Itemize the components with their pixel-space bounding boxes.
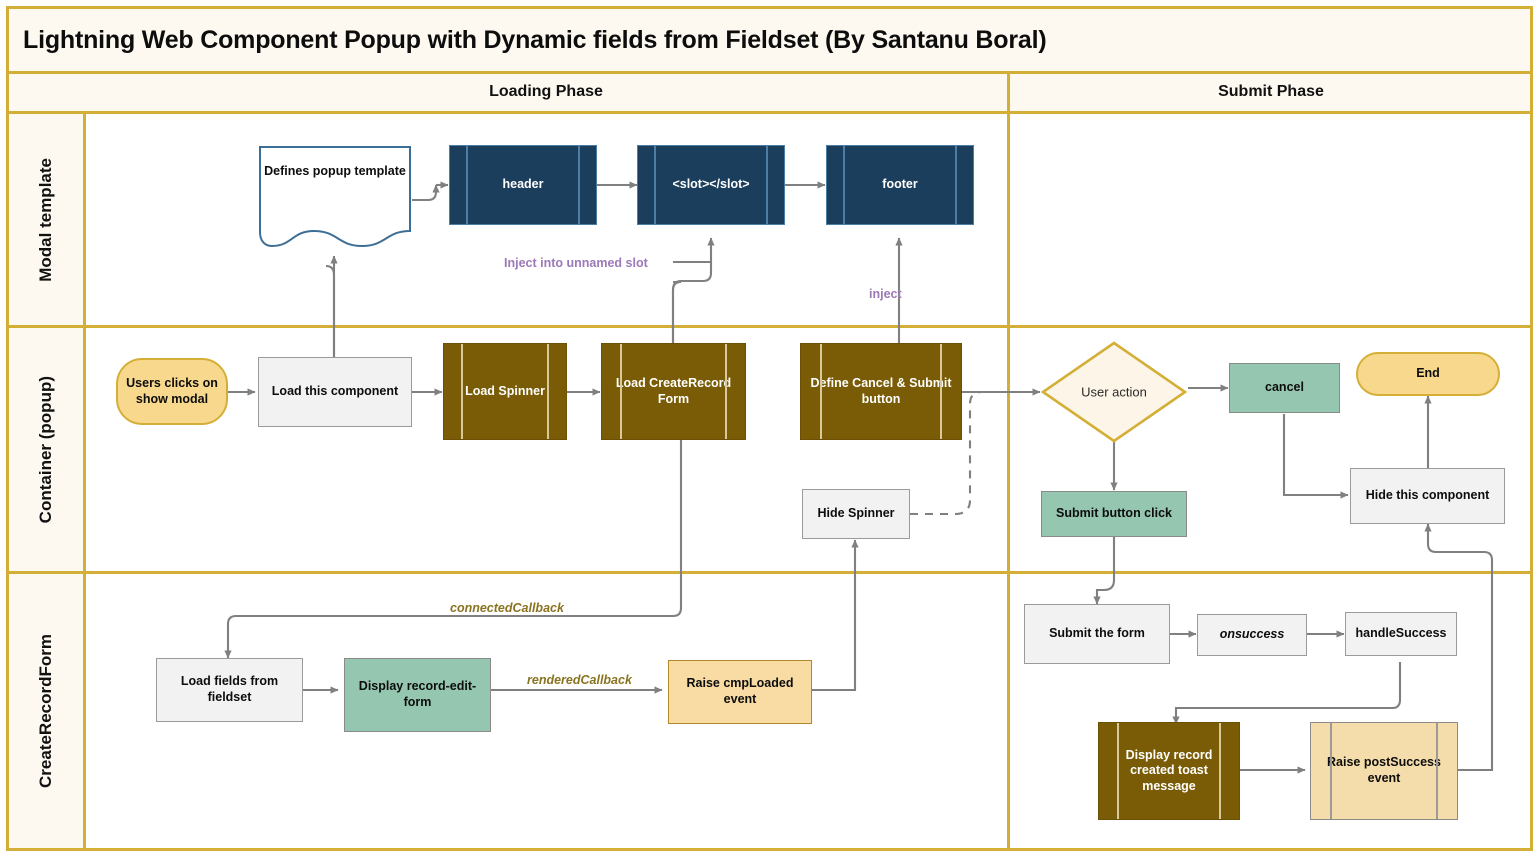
submit-the-form-label: Submit the form — [1043, 626, 1151, 642]
submit-button-click-label: Submit button click — [1050, 506, 1178, 522]
end-label: End — [1410, 366, 1446, 382]
display-record-edit-form-label: Display record-edit-form — [345, 679, 490, 710]
raise-postsuccess-node[interactable]: Raise postSuccess event — [1310, 722, 1458, 820]
phase-loading-label: Loading Phase — [489, 83, 603, 101]
onsuccess-node[interactable]: onsuccess — [1197, 614, 1307, 656]
onsuccess-label: onsuccess — [1214, 627, 1291, 643]
inject-unnamed-slot-label: Inject into unnamed slot — [504, 256, 648, 270]
sep-phase — [9, 111, 1530, 114]
load-spinner-node[interactable]: Load Spinner — [443, 343, 567, 440]
submit-button-click-node[interactable]: Submit button click — [1041, 491, 1187, 537]
user-action-decision-node[interactable]: User action — [1040, 340, 1188, 444]
inject-label: inject — [869, 287, 902, 301]
predef-bar-left — [1117, 723, 1119, 819]
load-createrecordform-label: Load CreateRecord Form — [602, 376, 745, 407]
sep-lane-header-col — [83, 111, 86, 848]
diagram-frame — [6, 6, 1533, 851]
lane-header-modal-template: Modal template — [9, 114, 83, 325]
diagram-canvas: Lightning Web Component Popup with Dynam… — [0, 0, 1539, 857]
predef-bar-left — [843, 146, 845, 224]
load-spinner-label: Load Spinner — [459, 384, 551, 400]
display-toast-node[interactable]: Display record created toast message — [1098, 722, 1240, 820]
connected-callback-label: connectedCallback — [446, 601, 568, 615]
load-fields-from-fieldset-node[interactable]: Load fields from fieldset — [156, 658, 303, 722]
load-this-component-label: Load this component — [266, 384, 404, 400]
predef-bar-right — [940, 344, 942, 439]
users-clicks-show-modal-node[interactable]: Users clicks on show modal — [116, 358, 228, 425]
handle-success-label: handleSuccess — [1349, 626, 1452, 642]
defines-popup-template-label: Defines popup template — [258, 163, 412, 179]
slot-node[interactable]: <slot></slot> — [637, 145, 785, 225]
hide-spinner-node[interactable]: Hide Spinner — [802, 489, 910, 539]
sep-lane-1 — [9, 325, 1530, 328]
raise-postsuccess-label: Raise postSuccess event — [1311, 755, 1457, 786]
document-shape-icon — [258, 145, 412, 248]
sep-phase-divider — [1007, 73, 1010, 848]
define-cancel-submit-node[interactable]: Define Cancel & Submit button — [800, 343, 962, 440]
rendered-callback-label: renderedCallback — [523, 673, 636, 687]
define-cancel-submit-label: Define Cancel & Submit button — [801, 376, 961, 407]
sep-title — [9, 71, 1530, 74]
predef-bar-left — [461, 344, 463, 439]
footer-node[interactable]: footer — [826, 145, 974, 225]
hide-spinner-label: Hide Spinner — [811, 506, 900, 522]
predef-bar-left — [820, 344, 822, 439]
predef-bar-left — [1330, 723, 1332, 819]
lane-header-createrecordform: CreateRecordForm — [9, 574, 83, 848]
hide-this-component-node[interactable]: Hide this component — [1350, 468, 1505, 524]
phase-submit: Submit Phase — [1012, 73, 1530, 111]
sep-lane-2 — [9, 571, 1530, 574]
submit-the-form-node[interactable]: Submit the form — [1024, 604, 1170, 664]
users-clicks-show-modal-label: Users clicks on show modal — [118, 376, 226, 407]
end-node[interactable]: End — [1356, 352, 1500, 396]
footer-label: footer — [876, 177, 923, 193]
slot-label: <slot></slot> — [666, 177, 755, 193]
predef-bar-right — [1436, 723, 1438, 819]
diagram-title-bar: Lightning Web Component Popup with Dynam… — [9, 9, 1530, 71]
predef-bar-right — [578, 146, 580, 224]
predef-bar-right — [1219, 723, 1221, 819]
predef-bar-left — [654, 146, 656, 224]
header-node[interactable]: header — [449, 145, 597, 225]
phase-submit-label: Submit Phase — [1218, 83, 1324, 101]
lane-label-createrecordform: CreateRecordForm — [36, 634, 56, 788]
load-fields-from-fieldset-label: Load fields from fieldset — [157, 674, 302, 705]
predef-bar-right — [725, 344, 727, 439]
predef-bar-left — [466, 146, 468, 224]
header-label: header — [497, 177, 550, 193]
page-title: Lightning Web Component Popup with Dynam… — [23, 26, 1046, 55]
display-toast-label: Display record created toast message — [1099, 748, 1239, 795]
phase-loading: Loading Phase — [83, 73, 1009, 111]
load-createrecordform-node[interactable]: Load CreateRecord Form — [601, 343, 746, 440]
hide-this-component-label: Hide this component — [1360, 488, 1496, 504]
raise-cmploaded-label: Raise cmpLoaded event — [669, 676, 811, 707]
lane-label-modal-template: Modal template — [36, 158, 56, 282]
lane-label-container: Container (popup) — [36, 376, 56, 523]
defines-popup-template-node[interactable]: Defines popup template — [258, 145, 412, 248]
predef-bar-left — [620, 344, 622, 439]
predef-bar-right — [547, 344, 549, 439]
handle-success-node[interactable]: handleSuccess — [1345, 612, 1457, 656]
cancel-node[interactable]: cancel — [1229, 363, 1340, 413]
display-record-edit-form-node[interactable]: Display record-edit-form — [344, 658, 491, 732]
lane-header-container: Container (popup) — [9, 328, 83, 571]
cancel-label: cancel — [1259, 380, 1310, 396]
phase-header-bar: Loading Phase Submit Phase — [9, 73, 1530, 111]
predef-bar-right — [766, 146, 768, 224]
load-this-component-node[interactable]: Load this component — [258, 357, 412, 427]
user-action-label: User action — [1040, 385, 1188, 400]
predef-bar-right — [955, 146, 957, 224]
raise-cmploaded-node[interactable]: Raise cmpLoaded event — [668, 660, 812, 724]
